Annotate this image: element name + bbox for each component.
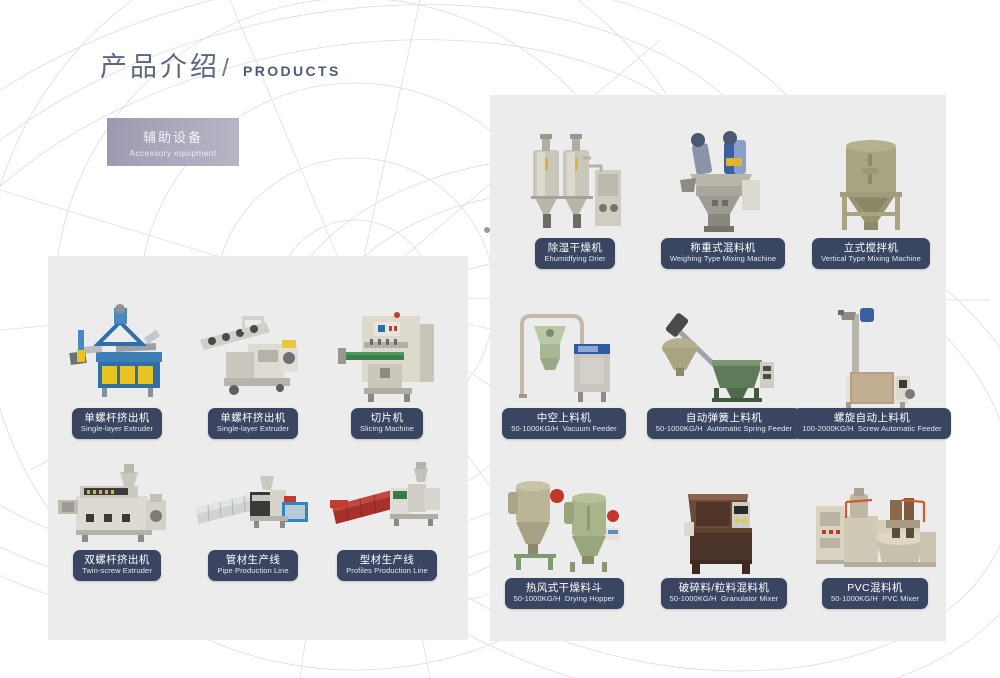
product-label: 单螺杆挤出机 Single-layer Extruder bbox=[72, 408, 162, 439]
product-name-cn: PVC混料机 bbox=[831, 582, 919, 594]
product-name-en: Pipe Production Line bbox=[217, 567, 288, 576]
product-name-en: 50-1000KG/H Vacuum Feeder bbox=[511, 425, 616, 434]
title-separator: / bbox=[222, 54, 229, 83]
product-name-cn: 单螺杆挤出机 bbox=[217, 412, 289, 424]
product-card-pipe-production-line[interactable]: 管材生产线 Pipe Production Line bbox=[196, 462, 310, 581]
product-name-cn: 管材生产线 bbox=[217, 554, 288, 566]
product-card-weighing-mixer[interactable]: 称重式混料机 Weighing Type Mixing Machine bbox=[668, 118, 778, 269]
product-name-en: Single-layer Extruder bbox=[81, 425, 153, 434]
product-name-cn: 单螺杆挤出机 bbox=[81, 412, 153, 424]
product-label: 中空上料机 50-1000KG/H Vacuum Feeder bbox=[502, 408, 625, 439]
product-name-cn: 螺旋自动上料机 bbox=[802, 412, 942, 424]
accessory-equipment-badge: 辅助设备 Accessory equipment bbox=[107, 118, 239, 166]
product-card-slicing-machine[interactable]: 切片机 Slicing Machine bbox=[334, 298, 440, 439]
badge-label-cn: 辅助设备 bbox=[143, 127, 203, 146]
vertical-mixer-photo bbox=[816, 128, 926, 238]
product-name-en: Twin-screw Extruder bbox=[82, 567, 152, 576]
product-card-profiles-production-line[interactable]: 型材生产线 Profiles Production Line bbox=[330, 462, 444, 581]
product-label: 称重式混料机 Weighing Type Mixing Machine bbox=[661, 238, 785, 269]
page-title: 产品介绍 / PRODUCTS bbox=[100, 45, 341, 84]
product-name-en: 50-1000KG/H Automatic Spring Feeder bbox=[656, 425, 793, 434]
twin-screw-extruder-photo bbox=[58, 458, 176, 550]
spring-feeder-photo bbox=[656, 300, 792, 408]
product-card-vertical-mixer[interactable]: 立式搅拌机 Vertical Type Mixing Machine bbox=[816, 128, 926, 269]
product-name-en: 50-1000KG/H Drying Hopper bbox=[514, 595, 615, 604]
product-name-cn: 热风式干燥料斗 bbox=[514, 582, 615, 594]
product-card-single-layer-extruder-1[interactable]: 单螺杆挤出机 Single-layer Extruder bbox=[58, 300, 176, 439]
product-name-en: Slicing Machine bbox=[360, 425, 414, 434]
product-card-pvc-mixer[interactable]: PVC混料机 50-1000KG/H PVC Mixer bbox=[806, 472, 944, 609]
product-label: 自动弹簧上料机 50-1000KG/H Automatic Spring Fee… bbox=[647, 408, 802, 439]
product-name-en: 50-1000KG/H Granulator Mixer bbox=[670, 595, 779, 604]
weighing-mixer-photo bbox=[668, 118, 778, 238]
product-label: 双螺杆挤出机 Twin-screw Extruder bbox=[73, 550, 161, 581]
page-title-cn: 产品介绍 bbox=[100, 45, 220, 84]
product-label: 管材生产线 Pipe Production Line bbox=[208, 550, 297, 581]
badge-label-en: Accessory equipment bbox=[130, 148, 217, 158]
product-name-cn: 型材生产线 bbox=[346, 554, 428, 566]
product-card-single-layer-extruder-2[interactable]: 单螺杆挤出机 Single-layer Extruder bbox=[196, 300, 310, 439]
profiles-production-line-photo bbox=[330, 462, 444, 550]
product-name-cn: 切片机 bbox=[360, 412, 414, 424]
product-card-spring-feeder[interactable]: 自动弹簧上料机 50-1000KG/H Automatic Spring Fee… bbox=[656, 300, 792, 439]
product-label: 单螺杆挤出机 Single-layer Extruder bbox=[208, 408, 298, 439]
dehumidifying-drier-photo bbox=[521, 128, 629, 238]
product-label: 螺旋自动上料机 100-2000KG/H Screw Automatic Fee… bbox=[793, 408, 951, 439]
page-title-en: PRODUCTS bbox=[243, 63, 341, 79]
product-card-dehumidifying-drier[interactable]: 除湿干燥机 Ehumidfying Drier bbox=[521, 128, 629, 269]
product-name-cn: 双螺杆挤出机 bbox=[82, 554, 152, 566]
granulator-mixer-photo bbox=[656, 472, 792, 578]
product-name-cn: 除湿干燥机 bbox=[544, 242, 605, 254]
product-label: 切片机 Slicing Machine bbox=[351, 408, 423, 439]
product-name-en: 100-2000KG/H Screw Automatic Feeder bbox=[802, 425, 942, 434]
product-card-vacuum-feeder[interactable]: 中空上料机 50-1000KG/H Vacuum Feeder bbox=[500, 300, 628, 439]
product-card-drying-hopper[interactable]: 热风式干燥料斗 50-1000KG/H Drying Hopper bbox=[500, 472, 628, 609]
vacuum-feeder-photo bbox=[500, 300, 628, 408]
product-name-en: Single-layer Extruder bbox=[217, 425, 289, 434]
product-name-en: 50-1000KG/H PVC Mixer bbox=[831, 595, 919, 604]
product-label: 除湿干燥机 Ehumidfying Drier bbox=[535, 238, 614, 269]
product-name-cn: 称重式混料机 bbox=[670, 242, 776, 254]
product-label: 热风式干燥料斗 50-1000KG/H Drying Hopper bbox=[505, 578, 624, 609]
product-label: 立式搅拌机 Vertical Type Mixing Machine bbox=[812, 238, 930, 269]
drying-hopper-photo bbox=[500, 472, 628, 578]
product-name-cn: 自动弹簧上料机 bbox=[656, 412, 793, 424]
pvc-mixer-photo bbox=[806, 472, 944, 578]
screw-feeder-photo bbox=[800, 300, 944, 408]
slicing-machine-photo bbox=[334, 298, 440, 408]
product-name-cn: 中空上料机 bbox=[511, 412, 616, 424]
roller-extruder-photo bbox=[196, 300, 310, 408]
product-card-twin-screw-extruder[interactable]: 双螺杆挤出机 Twin-screw Extruder bbox=[58, 458, 176, 581]
product-name-en: Vertical Type Mixing Machine bbox=[821, 255, 921, 264]
product-name-en: Profiles Production Line bbox=[346, 567, 428, 576]
product-card-granulator-mixer[interactable]: 破碎料/粒料混料机 50-1000KG/H Granulator Mixer bbox=[656, 472, 792, 609]
single-screw-extruder-photo bbox=[58, 300, 176, 408]
product-label: 型材生产线 Profiles Production Line bbox=[337, 550, 437, 581]
product-name-en: Weighing Type Mixing Machine bbox=[670, 255, 776, 264]
product-label: PVC混料机 50-1000KG/H PVC Mixer bbox=[822, 578, 928, 609]
product-label: 破碎料/粒料混料机 50-1000KG/H Granulator Mixer bbox=[661, 578, 788, 609]
product-name-cn: 立式搅拌机 bbox=[821, 242, 921, 254]
product-card-screw-feeder[interactable]: 螺旋自动上料机 100-2000KG/H Screw Automatic Fee… bbox=[800, 300, 944, 439]
pipe-production-line-photo bbox=[196, 462, 310, 550]
product-name-en: Ehumidfying Drier bbox=[544, 255, 605, 264]
product-name-cn: 破碎料/粒料混料机 bbox=[670, 582, 779, 594]
